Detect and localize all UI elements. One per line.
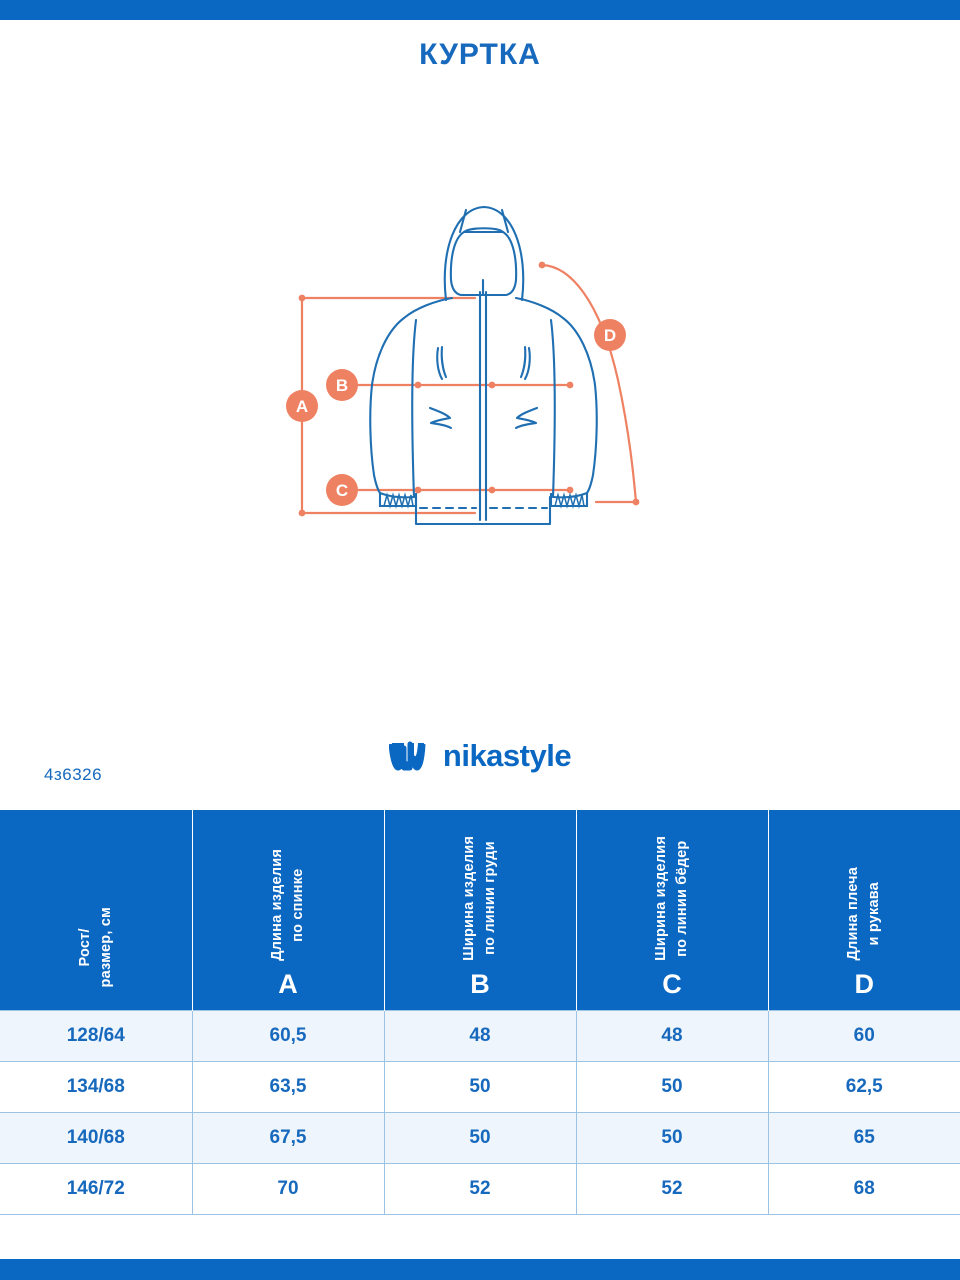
cell-b: 50	[384, 1061, 576, 1112]
cell-d: 60	[768, 1010, 960, 1061]
cell-b: 50	[384, 1112, 576, 1163]
brand-name: nikastyle	[443, 738, 571, 774]
cell-b: 48	[384, 1010, 576, 1061]
cell-a: 63,5	[192, 1061, 384, 1112]
column-header-c-text: Ширина изделия по линии бёдер	[651, 836, 693, 961]
table-row: 134/68 63,5 50 50 62,5	[0, 1061, 960, 1112]
bottom-accent-bar	[0, 1259, 960, 1280]
cuff-rib-right	[551, 493, 587, 506]
size-table: Рост/ размер, см Длина изделия по спинке…	[0, 810, 960, 1215]
column-header-c-letter: C	[662, 971, 682, 998]
marker-a: A	[286, 390, 318, 422]
top-accent-bar	[0, 0, 960, 20]
cell-c: 50	[576, 1112, 768, 1163]
table-row: 140/68 67,5 50 50 65	[0, 1112, 960, 1163]
marker-c: C	[326, 474, 358, 506]
column-header-b-letter: B	[470, 971, 490, 998]
column-header-d-text: Длина плеча и рукава	[843, 867, 885, 960]
column-header-b-text: Ширина изделия по линии груди	[459, 836, 501, 961]
column-header-c: Ширина изделия по линии бёдер C	[576, 810, 768, 1010]
size-chart-page: КУРТКА	[0, 0, 960, 1280]
jacket-illustration-svg: A B C D	[270, 180, 690, 540]
jacket-outline	[370, 207, 596, 524]
cell-d: 62,5	[768, 1061, 960, 1112]
measure-line-d	[542, 265, 636, 502]
cell-c: 48	[576, 1010, 768, 1061]
marker-a-label: A	[296, 397, 308, 416]
cell-c: 52	[576, 1163, 768, 1214]
cell-c: 50	[576, 1061, 768, 1112]
column-header-a-letter: A	[278, 971, 298, 998]
cell-a: 60,5	[192, 1010, 384, 1061]
cell-size: 140/68	[0, 1112, 192, 1163]
table-header-row: Рост/ размер, см Длина изделия по спинке…	[0, 810, 960, 1010]
cell-d: 68	[768, 1163, 960, 1214]
marker-d: D	[594, 319, 626, 351]
table-row: 146/72 70 52 52 68	[0, 1163, 960, 1214]
column-header-b: Ширина изделия по линии груди B	[384, 810, 576, 1010]
marker-b: B	[326, 369, 358, 401]
page-title: КУРТКА	[0, 38, 960, 72]
garment-diagram: A B C D	[0, 180, 960, 560]
column-header-d-letter: D	[855, 971, 875, 998]
cell-size: 134/68	[0, 1061, 192, 1112]
column-header-d: Длина плеча и рукава D	[768, 810, 960, 1010]
marker-d-label: D	[604, 326, 616, 345]
cell-a: 70	[192, 1163, 384, 1214]
table-row: 128/64 60,5 48 48 60	[0, 1010, 960, 1061]
brand-logo: nikastyle	[0, 738, 960, 774]
cell-a: 67,5	[192, 1112, 384, 1163]
marker-b-label: B	[336, 376, 348, 395]
column-header-a-text: Длина изделия по спинке	[267, 849, 309, 961]
nikastyle-wave-logo-icon	[389, 739, 433, 773]
cell-b: 52	[384, 1163, 576, 1214]
column-header-size-text: Рост/ размер, см	[75, 907, 117, 987]
cell-size: 128/64	[0, 1010, 192, 1061]
column-header-size: Рост/ размер, см	[0, 810, 192, 1010]
cell-d: 65	[768, 1112, 960, 1163]
marker-c-label: C	[336, 481, 348, 500]
cell-size: 146/72	[0, 1163, 192, 1214]
column-header-a: Длина изделия по спинке A	[192, 810, 384, 1010]
